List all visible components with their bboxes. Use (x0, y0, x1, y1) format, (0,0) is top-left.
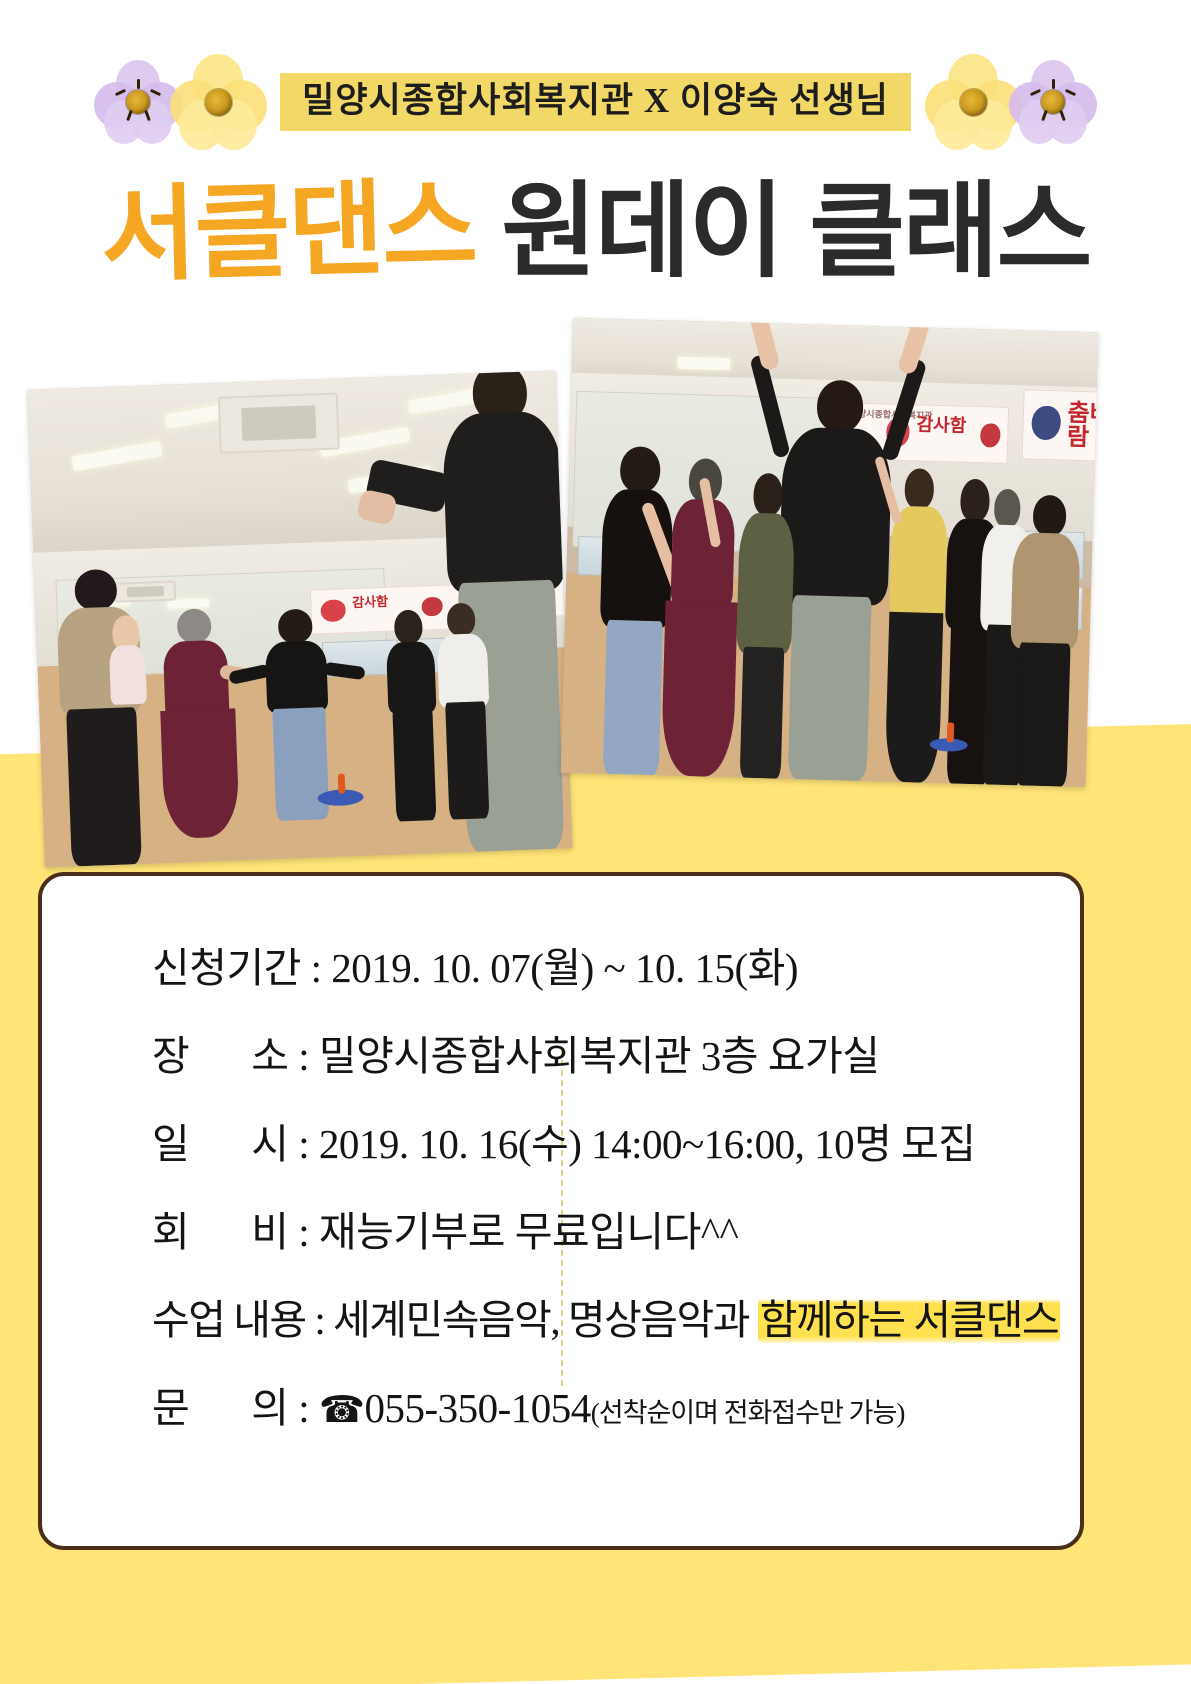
person-center-black-top (252, 608, 344, 821)
row-class-content-text: 수업 내용 : 세계민속음악, 명상음악과 함께하는 서클댄스 (152, 1286, 1060, 1346)
row-contact-label2: 의 (251, 1374, 288, 1434)
row-fee-label2: 비 (251, 1198, 288, 1258)
telephone-icon: ☎ (319, 1390, 365, 1431)
row-application-period-label: 신청기간 (152, 934, 301, 994)
person-olive-dress (723, 472, 805, 779)
row-datetime-label2: 시 (251, 1110, 288, 1170)
bullet-flower-icon (76, 1024, 132, 1080)
title-main-text: 원데이 클래스 (501, 180, 1090, 284)
flower-yellow-left-inner (170, 54, 266, 150)
row-contact-note: (선착순이며 전화접수만 가능) (591, 1398, 905, 1428)
photo-circle-dance-standing: 감사함 춤 (27, 370, 572, 867)
photo-circle-dance-arms-raised: 밀양시종합사회복지관 감사함 춤바람 (561, 318, 1098, 787)
person-maroon-dress (152, 607, 245, 839)
row-contact-value-prefix: : (288, 1385, 318, 1431)
row-location-label: 장 (152, 1022, 189, 1082)
row-application-period: 신청기간 : 2019. 10. 07(월) ~ 10. 15(화) (76, 920, 1046, 1008)
person-with-baby (45, 567, 161, 867)
center-candle-arrangement-right (929, 737, 967, 751)
row-contact-label: 문 (152, 1374, 189, 1434)
person-right-beige-top (1002, 494, 1089, 787)
flower-yellow-right-inner (925, 54, 1021, 150)
row-class-content-value-highlighted: 함께하는 서클댄스 (758, 1297, 1061, 1343)
bullet-flower-icon (76, 1376, 132, 1432)
bullet-flower-icon (76, 936, 132, 992)
flower-purple-right-outer (1011, 60, 1095, 144)
row-class-content: 수업 내용 : 세계민속음악, 명상음악과 함께하는 서클댄스 (76, 1272, 1046, 1360)
header-banner-row: 밀양시종합사회복지관 X 이양숙 선생님 (0, 44, 1191, 160)
row-fee: 회비 : 재능기부로 무료입니다^^ (76, 1184, 1046, 1272)
row-location-value: : 밀양시종합사회복지관 3층 요가실 (288, 1033, 879, 1079)
row-contact: 문의 : ☎055-350-1054(선착순이며 전화접수만 가능) (76, 1360, 1046, 1448)
row-contact-text: 문의 : ☎055-350-1054(선착순이며 전화접수만 가능) (152, 1374, 904, 1434)
poster-root: 밀양시종합사회복지관 X 이양숙 선생님 서클댄스 원데이 클래스 (0, 0, 1191, 1684)
title-accent-text: 서클댄스 (99, 175, 476, 288)
row-location-text: 장소 : 밀양시종합사회복지관 3층 요가실 (152, 1022, 879, 1082)
row-fee-text: 회비 : 재능기부로 무료입니다^^ (152, 1198, 738, 1258)
studio-scene-left: 감사함 춤 (27, 370, 572, 867)
row-application-period-value: : 2019. 10. 07(월) ~ 10. 15(화) (301, 945, 798, 991)
row-datetime: 일시 : 2019. 10. 16(수) 14:00~16:00, 10명 모집 (76, 1096, 1046, 1184)
row-class-content-value-plain: : 세계민속음악, 명상음악과 (306, 1297, 758, 1343)
row-fee-label: 회 (152, 1198, 189, 1258)
header-banner-text: 밀양시종합사회복지관 X 이양숙 선생님 (280, 73, 911, 132)
bullet-flower-icon (76, 1200, 132, 1256)
bullet-flower-icon (76, 1288, 132, 1344)
row-datetime-text: 일시 : 2019. 10. 16(수) 14:00~16:00, 10명 모집 (152, 1110, 976, 1170)
row-contact-phone[interactable]: 055-350-1054 (364, 1385, 590, 1431)
row-fee-value: : 재능기부로 무료입니다^^ (288, 1209, 738, 1255)
poster-title: 서클댄스 원데이 클래스 (0, 162, 1191, 302)
row-application-period-text: 신청기간 : 2019. 10. 07(월) ~ 10. 15(화) (152, 934, 798, 994)
info-card: 신청기간 : 2019. 10. 07(월) ~ 10. 15(화) 장소 : … (38, 872, 1084, 1550)
row-location: 장소 : 밀양시종합사회복지관 3층 요가실 (76, 1008, 1046, 1096)
studio-scene-right: 밀양시종합사회복지관 감사함 춤바람 (561, 318, 1098, 787)
row-datetime-label: 일 (152, 1110, 189, 1170)
flower-purple-left-outer (96, 60, 180, 144)
bullet-flower-icon (76, 1112, 132, 1168)
row-location-label2: 소 (251, 1022, 288, 1082)
person-white-jacket (426, 602, 502, 819)
row-datetime-value: : 2019. 10. 16(수) 14:00~16:00, 10명 모집 (288, 1121, 975, 1167)
row-class-content-label: 수업 내용 (152, 1286, 306, 1346)
